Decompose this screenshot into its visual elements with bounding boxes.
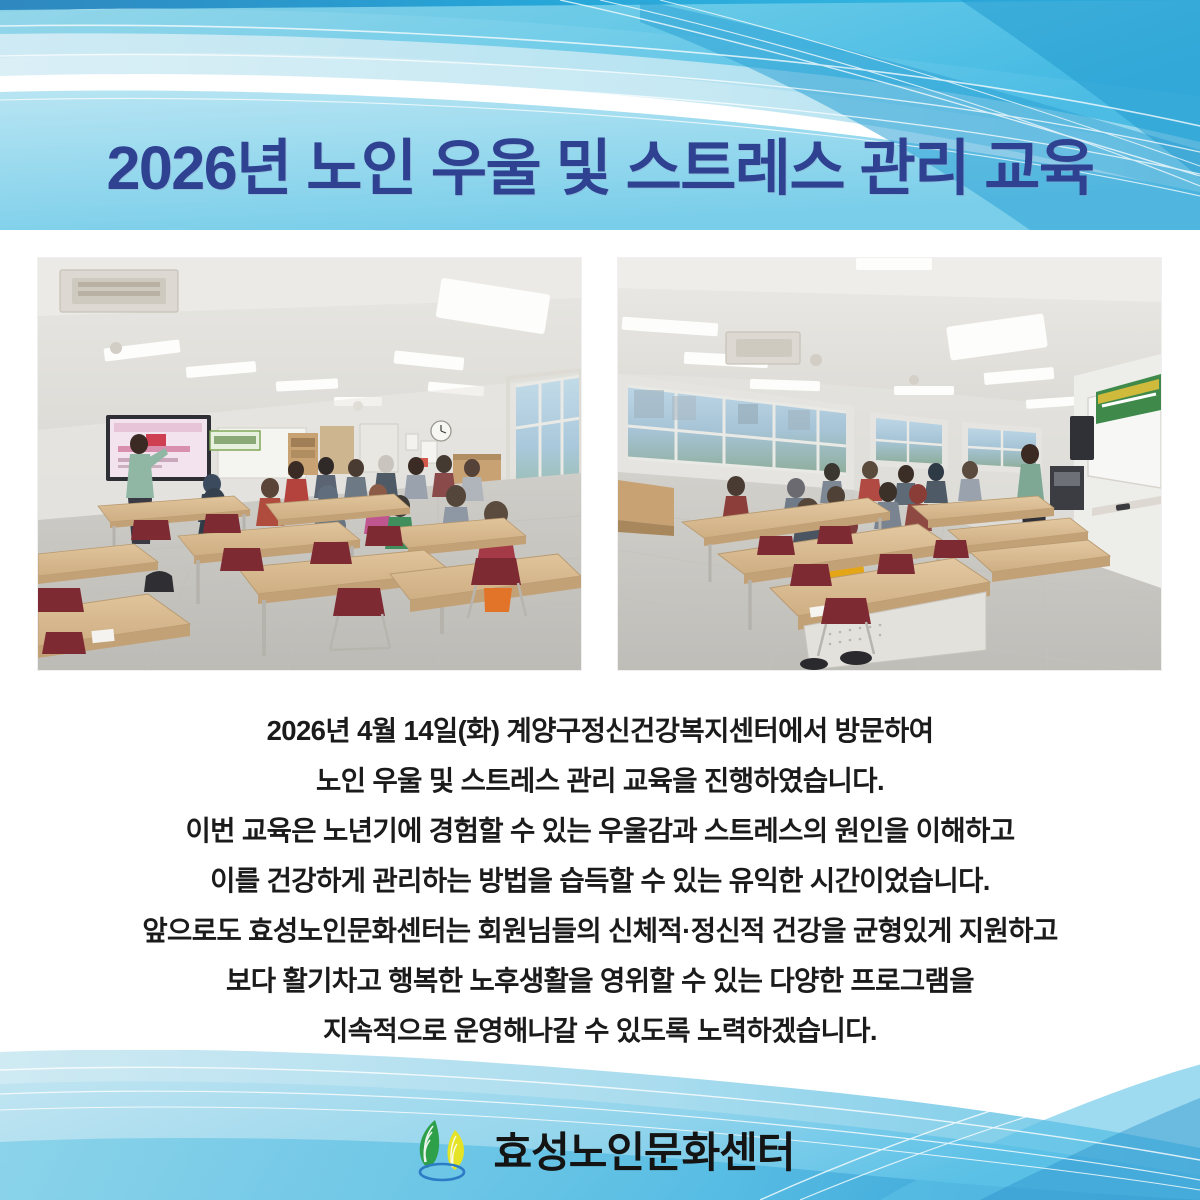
body-line: 2026년 4월 14일(화) 계양구정신건강복지센터에서 방문하여 [0, 706, 1200, 756]
page-title-container: 2026년 노인 우울 및 스트레스 관리 교육 [0, 136, 1200, 202]
body-line: 노인 우울 및 스트레스 관리 교육을 진행하였습니다. [0, 756, 1200, 806]
photo-classroom-rear-view [618, 258, 1161, 670]
body-paragraph: 2026년 4월 14일(화) 계양구정신건강복지센터에서 방문하여 노인 우울… [0, 706, 1200, 1056]
body-line: 앞으로도 효성노인문화센터는 회원님들의 신체적·정신적 건강을 균형있게 지원… [0, 906, 1200, 956]
page-title: 2026년 노인 우울 및 스트레스 관리 교육 [106, 136, 1093, 202]
photo-classroom-front-view [38, 258, 581, 670]
footer-branding: 효성노인문화센터 [0, 1112, 1200, 1186]
body-line: 지속적으로 운영해나갈 수 있도록 노력하겠습니다. [0, 1006, 1200, 1056]
body-line: 이를 건강하게 관리하는 방법을 습득할 수 있는 유익한 시간이었습니다. [0, 856, 1200, 906]
photo-gallery [38, 258, 1162, 670]
organization-name: 효성노인문화센터 [493, 1119, 794, 1180]
body-line: 보다 활기차고 행복한 노후생활을 영위할 수 있는 다양한 프로그램을 [0, 956, 1200, 1006]
leaf-pair-logo-icon [405, 1112, 479, 1186]
poster-canvas: 2026년 노인 우울 및 스트레스 관리 교육 [0, 0, 1200, 1200]
body-line: 이번 교육은 노년기에 경험할 수 있는 우울감과 스트레스의 원인을 이해하고 [0, 806, 1200, 856]
